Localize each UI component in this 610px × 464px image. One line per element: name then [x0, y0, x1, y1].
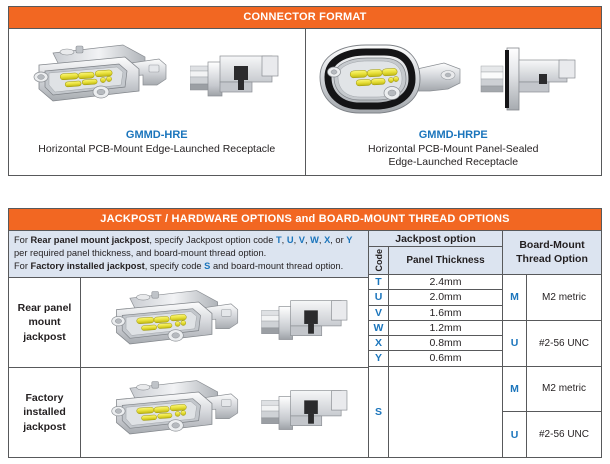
thread-code: M	[503, 275, 527, 320]
connector-description-line-1: Horizontal PCB-Mount Panel-Sealed	[368, 143, 538, 156]
connector-part-number: GMMD-HRE	[126, 129, 188, 141]
panel-thickness-empty	[389, 367, 502, 458]
dsub-connector-isometric-icon	[84, 371, 254, 455]
connector-description-line-2: Edge-Launched Receptacle	[368, 156, 538, 169]
panel-thickness: 0.8mm	[389, 336, 502, 350]
note-line3-pre: For	[14, 261, 31, 271]
panel-thickness-column-header: Panel Thickness	[389, 247, 502, 274]
connector-variant-gmmd-hre: GMMD-HRE Horizontal PCB-Mount Edge-Launc…	[9, 29, 305, 175]
table-row: V 1.6mm	[369, 306, 502, 321]
dsub-connector-isometric-icon	[84, 281, 254, 365]
dsub-connector-isometric-icon	[19, 35, 169, 123]
board-mount-thread-column: M M2 metric U #2-56 UNC	[503, 367, 601, 458]
thread-label: #2-56 UNC	[527, 412, 601, 457]
note-line1-bold: Rear panel mount jackpost	[31, 235, 150, 245]
jackpost-row-rear-panel-mount: Rear panel mount jackpost	[9, 278, 368, 368]
jackpost-option-subheaders: Code Panel Thickness	[369, 247, 502, 274]
panel-thickness: 1.6mm	[389, 306, 502, 320]
panel-thickness: 2.4mm	[389, 275, 502, 289]
table-row: S	[369, 367, 502, 458]
row-label-line-3: jackpost	[18, 330, 72, 344]
jackpost-options-table: JACKPOST / HARDWARE OPTIONS and BOARD-MO…	[8, 208, 602, 458]
thread-header-line-2: Thread Option	[516, 253, 588, 266]
option-code: W	[369, 321, 389, 335]
table-row: U #2-56 UNC	[503, 412, 601, 457]
connector-variant-artwork	[306, 33, 602, 125]
jackpost-row-label: Rear panel mount jackpost	[9, 278, 81, 367]
jackpost-rear-panel-data: T 2.4mm U 2.0mm V 1.6mm W	[369, 275, 601, 366]
jackpost-left-column: For Rear panel mount jackpost, specify J…	[9, 231, 369, 457]
note-line2: per required panel thickness, and board-…	[14, 248, 266, 258]
jackpost-table-header-row: Jackpost option Code Panel Thickness Boa…	[369, 231, 601, 275]
option-code: V	[369, 306, 389, 320]
table-row: M M2 metric	[503, 367, 601, 413]
note-code-V: V	[299, 235, 305, 245]
table-row: U 2.0mm	[369, 290, 502, 305]
jackpost-row-label: Factory installed jackpost	[9, 368, 81, 457]
connector-format-table: CONNECTOR FORMAT	[8, 6, 602, 176]
thread-label: M2 metric	[527, 275, 601, 320]
thread-code: M	[503, 367, 527, 412]
panel-thickness: 1.2mm	[389, 321, 502, 335]
jackpost-options-body: For Rear panel mount jackpost, specify J…	[9, 231, 601, 457]
row-label-line-3: jackpost	[23, 420, 66, 434]
note-line1-mid: , specify Jackpost option code	[149, 235, 276, 245]
jackpost-row-factory-installed: Factory installed jackpost	[9, 368, 368, 457]
connector-format-header: CONNECTOR FORMAT	[9, 7, 601, 29]
row-label-line-1: Factory	[23, 391, 66, 405]
jackpost-option-header: Jackpost option	[369, 231, 502, 247]
panel-thickness: 0.6mm	[389, 351, 502, 365]
note-code-Y: Y	[346, 235, 352, 245]
jackpost-option-header-group: Jackpost option Code Panel Thickness	[369, 231, 503, 274]
jackpost-options-header: JACKPOST / HARDWARE OPTIONS and BOARD-MO…	[9, 209, 601, 231]
jackpost-instructions-note: For Rear panel mount jackpost, specify J…	[9, 231, 368, 278]
table-row: T 2.4mm	[369, 275, 502, 290]
table-row: M M2 metric	[503, 275, 601, 321]
table-row: X 0.8mm	[369, 336, 502, 351]
row-label-line-2: mount	[18, 315, 72, 329]
dsub-connector-side-profile-icon	[190, 44, 294, 114]
note-code-T: T	[276, 235, 282, 245]
table-row: Y 0.6mm	[369, 351, 502, 365]
board-mount-thread-option-header: Board-Mount Thread Option	[503, 231, 601, 274]
jackpost-option-code-column: T 2.4mm U 2.0mm V 1.6mm W	[369, 275, 503, 366]
thread-code: U	[503, 321, 527, 366]
table-row: U #2-56 UNC	[503, 321, 601, 366]
datasheet-page: CONNECTOR FORMAT	[0, 0, 610, 464]
option-code: S	[369, 367, 389, 458]
thread-code: U	[503, 412, 527, 457]
connector-description: Horizontal PCB-Mount Panel-Sealed Edge-L…	[368, 143, 538, 169]
thread-header-line-1: Board-Mount	[516, 239, 588, 252]
panel-thickness: 2.0mm	[389, 290, 502, 304]
dsub-connector-panel-sealed-isometric-icon	[312, 35, 466, 123]
option-code: T	[369, 275, 389, 289]
note-line1-pre: For	[14, 235, 31, 245]
option-code: U	[369, 290, 389, 304]
thread-label: #2-56 UNC	[527, 321, 601, 366]
connector-variant-gmmd-hrpe: GMMD-HRPE Horizontal PCB-Mount Panel-Sea…	[305, 29, 602, 175]
note-line3-bold: Factory installed jackpost	[31, 261, 145, 271]
table-row: W 1.2mm	[369, 321, 502, 336]
jackpost-factory-installed-data: S M M2 metric U #2-56 UNC	[369, 366, 601, 458]
note-code-X: X	[324, 235, 330, 245]
jackpost-option-code-column: S	[369, 367, 503, 458]
connector-variant-artwork	[9, 33, 305, 125]
jackpost-row-artwork	[81, 368, 368, 457]
code-column-header: Code	[369, 247, 389, 274]
row-label-line-2: installed	[23, 405, 66, 419]
connector-part-number: GMMD-HRPE	[419, 129, 488, 141]
connector-description: Horizontal PCB-Mount Edge-Launched Recep…	[38, 143, 275, 156]
dsub-connector-side-profile-icon	[259, 379, 365, 447]
jackpost-right-column: Jackpost option Code Panel Thickness Boa…	[369, 231, 601, 457]
note-code-U: U	[287, 235, 294, 245]
row-label-line-1: Rear panel	[18, 301, 72, 315]
note-line3-post: and board-mount thread option.	[210, 261, 343, 271]
option-code: X	[369, 336, 389, 350]
note-line3-mid: , specify code	[145, 261, 204, 271]
jackpost-row-artwork	[81, 278, 368, 367]
dsub-connector-side-profile-icon	[259, 289, 365, 357]
connector-format-body: GMMD-HRE Horizontal PCB-Mount Edge-Launc…	[9, 29, 601, 175]
thread-label: M2 metric	[527, 367, 601, 412]
note-code-W: W	[310, 235, 319, 245]
dsub-connector-panel-sealed-side-profile-icon	[479, 42, 595, 116]
option-code: Y	[369, 351, 389, 365]
board-mount-thread-column: M M2 metric U #2-56 UNC	[503, 275, 601, 366]
